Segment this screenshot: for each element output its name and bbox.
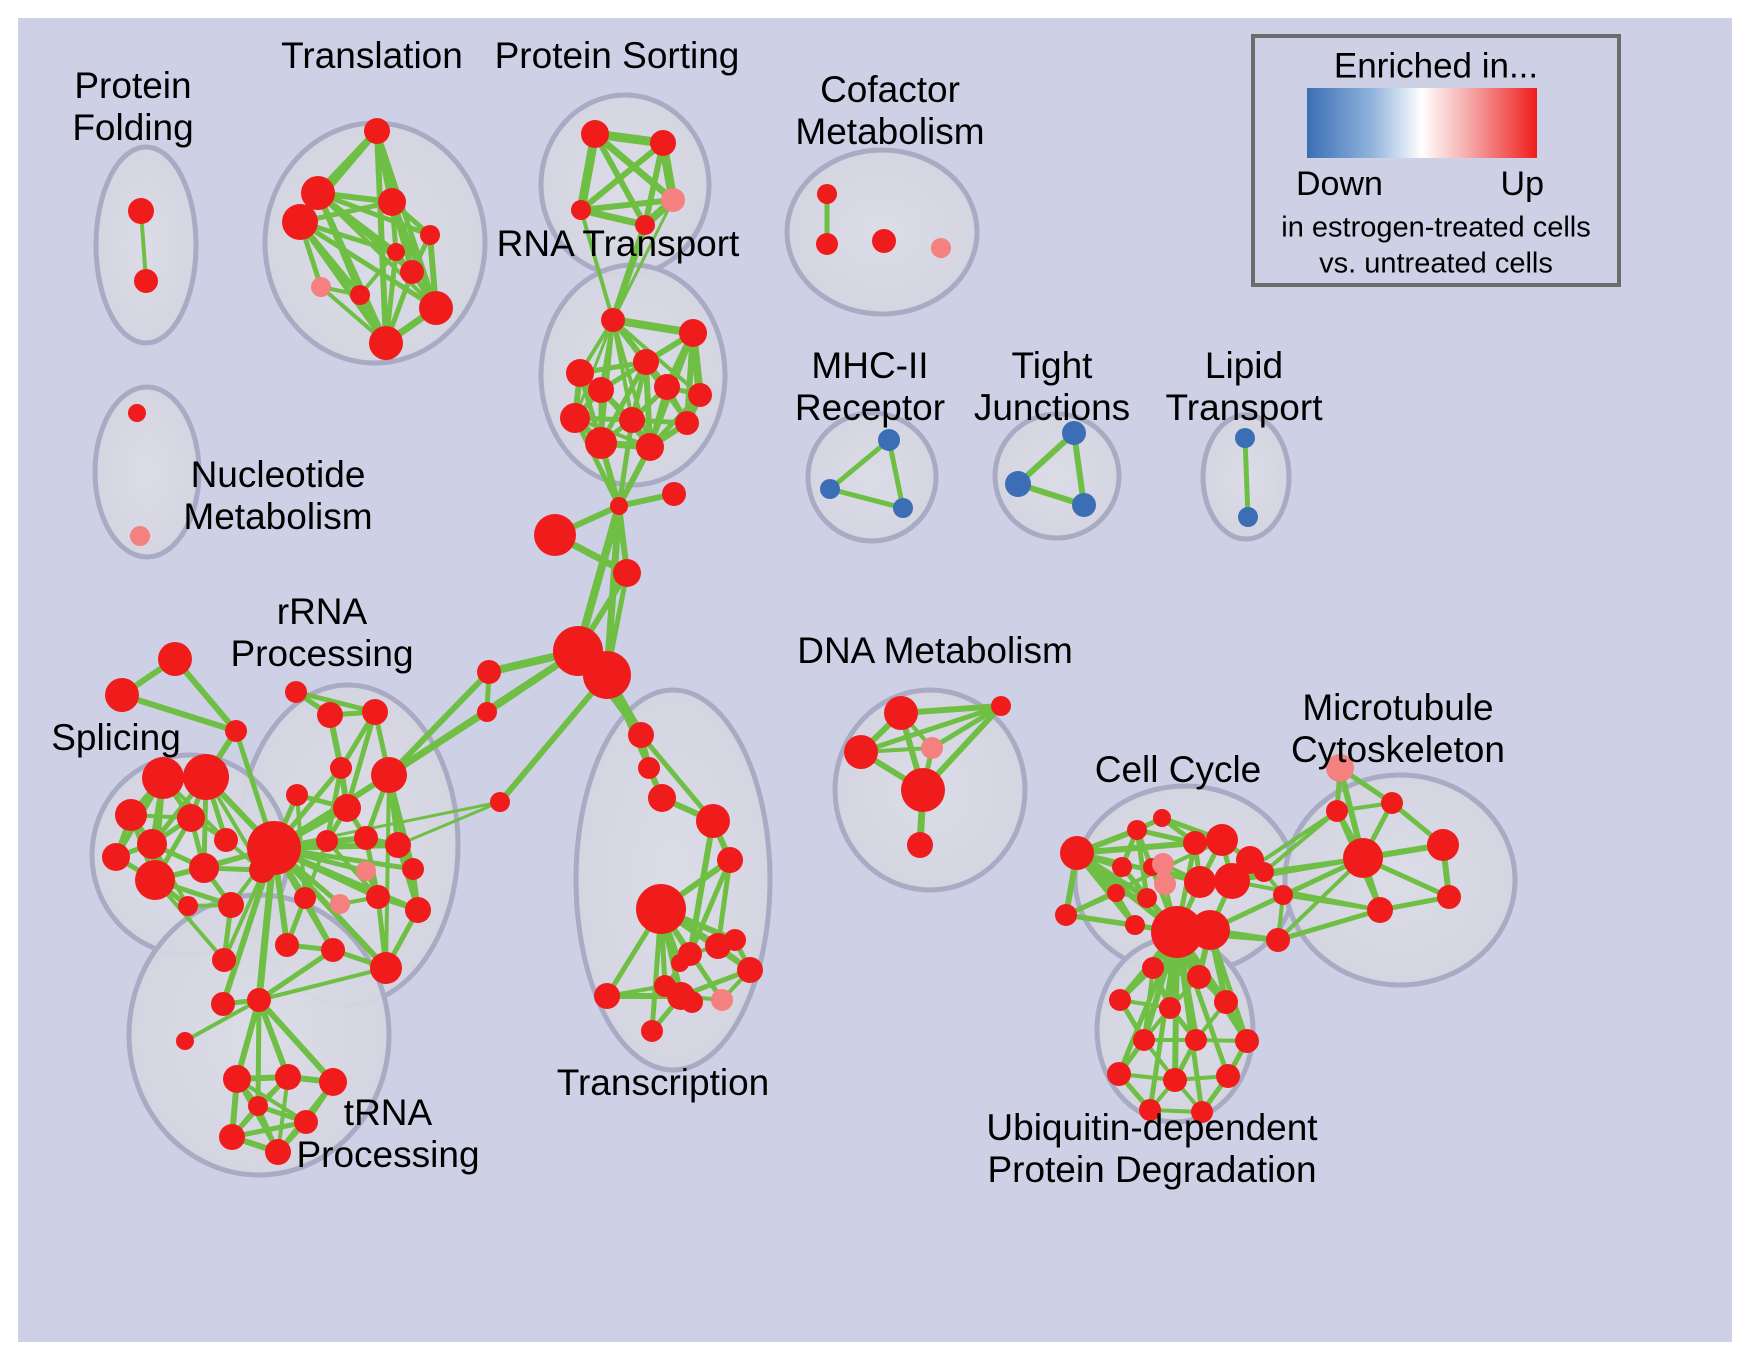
network-node[interactable]	[378, 188, 406, 216]
network-node[interactable]	[893, 498, 913, 518]
cluster-label-rna-transport: RNA Transport	[497, 223, 740, 264]
network-node[interactable]	[212, 948, 236, 972]
network-node[interactable]	[354, 826, 378, 850]
network-node[interactable]	[369, 326, 403, 360]
cluster-label-cell-cycle: Cell Cycle	[1095, 749, 1262, 790]
network-node[interactable]	[211, 992, 235, 1016]
network-node[interactable]	[1238, 507, 1258, 527]
network-node[interactable]	[330, 757, 352, 779]
network-node[interactable]	[931, 238, 951, 258]
network-node[interactable]	[1343, 838, 1383, 878]
network-node[interactable]	[872, 229, 896, 253]
network-node[interactable]	[218, 892, 244, 918]
network-node[interactable]	[619, 407, 645, 433]
network-node[interactable]	[594, 983, 620, 1009]
network-node[interactable]	[247, 821, 301, 875]
legend-up-label: Up	[1501, 165, 1544, 203]
network-node[interactable]	[1072, 493, 1096, 517]
network-node[interactable]	[387, 243, 405, 261]
network-node[interactable]	[1254, 862, 1274, 882]
cluster-hull-transcription	[576, 690, 770, 1070]
legend-caption-line2: vs. untreated cells	[1319, 248, 1553, 280]
network-node[interactable]	[610, 497, 628, 515]
network-node[interactable]	[654, 374, 680, 400]
network-node[interactable]	[385, 832, 411, 858]
network-node[interactable]	[679, 319, 707, 347]
network-node[interactable]	[285, 681, 307, 703]
legend-down-label: Down	[1296, 165, 1383, 203]
network-node[interactable]	[1427, 829, 1459, 861]
network-node[interactable]	[1206, 824, 1238, 856]
network-node[interactable]	[661, 188, 685, 212]
network-node[interactable]	[588, 377, 614, 403]
network-node[interactable]	[225, 720, 247, 742]
network-node[interactable]	[583, 651, 631, 699]
network-node[interactable]	[636, 884, 686, 934]
network-node[interactable]	[317, 702, 343, 728]
network-node[interactable]	[142, 757, 184, 799]
network-node[interactable]	[566, 359, 594, 387]
network-node[interactable]	[321, 938, 345, 962]
cluster-label-dna-metabolism: DNA Metabolism	[797, 630, 1073, 671]
cluster-label-ubiquitin-protein-degradation: Ubiquitin-dependent	[986, 1107, 1318, 1148]
cluster-label-tight-junctions: Junctions	[974, 387, 1130, 428]
network-node[interactable]	[662, 482, 686, 506]
cluster-label-lipid-transport: Transport	[1166, 387, 1324, 428]
network-node[interactable]	[820, 479, 840, 499]
network-node[interactable]	[991, 696, 1011, 716]
network-node[interactable]	[356, 861, 376, 881]
network-node[interactable]	[102, 843, 130, 871]
network-node[interactable]	[1107, 1062, 1131, 1086]
cluster-label-protein-sorting: Protein Sorting	[495, 35, 740, 76]
network-node[interactable]	[641, 1020, 663, 1042]
network-node[interactable]	[633, 349, 659, 375]
network-node[interactable]	[223, 1065, 251, 1093]
network-node[interactable]	[405, 897, 431, 923]
network-node[interactable]	[1060, 836, 1094, 870]
network-node[interactable]	[1163, 1068, 1187, 1092]
network-node[interactable]	[282, 204, 318, 240]
network-node[interactable]	[1190, 910, 1230, 950]
network-node[interactable]	[370, 952, 402, 984]
cluster-hull-protein-folding	[96, 147, 196, 343]
cluster-label-rrna-processing: Processing	[230, 633, 413, 674]
network-node[interactable]	[1153, 809, 1171, 827]
network-node[interactable]	[1381, 792, 1403, 814]
network-node[interactable]	[105, 678, 139, 712]
cluster-label-protein-folding: Folding	[72, 107, 193, 148]
network-node[interactable]	[1107, 884, 1125, 902]
network-node[interactable]	[319, 1068, 347, 1096]
network-node[interactable]	[1187, 965, 1211, 989]
network-node[interactable]	[581, 120, 609, 148]
network-node[interactable]	[650, 130, 676, 156]
network-node[interactable]	[128, 404, 146, 422]
network-node[interactable]	[490, 792, 510, 812]
network-node[interactable]	[1235, 428, 1255, 448]
network-node[interactable]	[477, 660, 501, 684]
cluster-label-splicing: Splicing	[51, 717, 181, 758]
network-node[interactable]	[1326, 800, 1348, 822]
cluster-hull-mhc-ii-receptor	[808, 413, 936, 541]
network-node[interactable]	[128, 198, 154, 224]
network-node[interactable]	[1125, 915, 1145, 935]
network-node[interactable]	[1266, 928, 1290, 952]
network-node[interactable]	[737, 957, 763, 983]
network-node[interactable]	[158, 642, 192, 676]
cluster-label-microtubule-cytoskeleton: Microtubule	[1302, 687, 1493, 728]
network-node[interactable]	[675, 411, 699, 435]
cluster-label-mhc-ii-receptor: MHC-II	[811, 345, 928, 386]
network-node[interactable]	[420, 225, 440, 245]
network-node[interactable]	[667, 982, 695, 1010]
network-node[interactable]	[648, 784, 676, 812]
network-node[interactable]	[316, 830, 338, 852]
network-node[interactable]	[921, 737, 943, 759]
network-node[interactable]	[189, 853, 219, 883]
network-node[interactable]	[1152, 853, 1174, 875]
network-node[interactable]	[333, 794, 361, 822]
cluster-label-rrna-processing: rRNA	[277, 591, 368, 632]
network-node[interactable]	[419, 291, 453, 325]
network-node[interactable]	[1109, 989, 1131, 1011]
network-node[interactable]	[364, 118, 390, 144]
network-node[interactable]	[247, 988, 271, 1012]
network-node[interactable]	[130, 526, 150, 546]
network-canvas: ProteinFoldingTranslationProtein Sorting…	[0, 0, 1750, 1360]
network-node[interactable]	[1437, 885, 1461, 909]
network-node[interactable]	[294, 887, 316, 909]
network-node[interactable]	[705, 933, 731, 959]
network-node[interactable]	[907, 832, 933, 858]
network-node[interactable]	[636, 433, 664, 461]
network-node[interactable]	[688, 383, 712, 407]
network-node[interactable]	[294, 1110, 318, 1134]
cluster-label-tight-junctions: Tight	[1012, 345, 1094, 386]
network-node[interactable]	[219, 1124, 245, 1150]
cluster-label-translation: Translation	[281, 35, 463, 76]
network-node[interactable]	[402, 858, 424, 880]
network-node[interactable]	[362, 699, 388, 725]
cluster-label-mhc-ii-receptor: Receptor	[795, 387, 945, 428]
network-node[interactable]	[1055, 904, 1077, 926]
cluster-label-ubiquitin-protein-degradation: Protein Degradation	[987, 1149, 1316, 1190]
network-node[interactable]	[1273, 885, 1293, 905]
network-node[interactable]	[1214, 863, 1250, 899]
network-node[interactable]	[1142, 957, 1164, 979]
network-node[interactable]	[1216, 1064, 1240, 1088]
network-node[interactable]	[1185, 1029, 1207, 1051]
cluster-label-transcription: Transcription	[557, 1062, 769, 1103]
network-node[interactable]	[560, 403, 590, 433]
cluster-label-cofactor-metabolism: Cofactor	[820, 69, 960, 110]
network-node[interactable]	[135, 860, 175, 900]
network-node[interactable]	[301, 176, 335, 210]
network-node[interactable]	[628, 722, 654, 748]
network-node[interactable]	[286, 784, 308, 806]
network-node[interactable]	[137, 829, 167, 859]
cluster-label-trna-processing: tRNA	[344, 1092, 433, 1133]
network-node[interactable]	[178, 896, 198, 916]
network-node[interactable]	[1184, 866, 1216, 898]
network-node[interactable]	[1137, 888, 1157, 908]
network-node[interactable]	[400, 260, 424, 284]
cluster-label-lipid-transport: Lipid	[1205, 345, 1283, 386]
network-node[interactable]	[1235, 1029, 1259, 1053]
legend-gradient-bar	[1307, 88, 1537, 158]
network-node[interactable]	[477, 702, 497, 722]
network-node[interactable]	[585, 427, 617, 459]
network-node[interactable]	[177, 804, 205, 832]
network-node[interactable]	[638, 757, 660, 779]
cluster-label-nucleotide-metabolism: Nucleotide	[191, 454, 366, 495]
network-node[interactable]	[214, 828, 238, 852]
network-node[interactable]	[176, 1032, 194, 1050]
network-node[interactable]	[134, 269, 158, 293]
network-node[interactable]	[1367, 897, 1393, 923]
network-node[interactable]	[601, 308, 625, 332]
legend-panel: Enriched in... Down Up in estrogen-treat…	[1253, 36, 1619, 285]
legend-title: Enriched in...	[1334, 46, 1538, 85]
network-node[interactable]	[1183, 831, 1207, 855]
cluster-label-nucleotide-metabolism: Metabolism	[183, 496, 372, 537]
network-node[interactable]	[311, 277, 331, 297]
network-node[interactable]	[183, 754, 229, 800]
network-node[interactable]	[1005, 471, 1031, 497]
network-node[interactable]	[613, 559, 641, 587]
legend-caption-line1: in estrogen-treated cells	[1281, 212, 1591, 244]
network-node[interactable]	[717, 847, 743, 873]
network-node[interactable]	[1133, 1029, 1155, 1051]
network-node[interactable]	[696, 804, 730, 838]
network-node[interactable]	[275, 933, 299, 957]
cluster-label-protein-folding: Protein	[74, 65, 191, 106]
network-node[interactable]	[371, 757, 407, 793]
network-node[interactable]	[816, 233, 838, 255]
network-node[interactable]	[350, 285, 370, 305]
network-node[interactable]	[248, 1096, 268, 1116]
network-node[interactable]	[671, 954, 689, 972]
network-node[interactable]	[330, 894, 350, 914]
network-node[interactable]	[1112, 857, 1132, 877]
network-node[interactable]	[1127, 820, 1147, 840]
network-node[interactable]	[534, 514, 576, 556]
network-node[interactable]	[878, 429, 900, 451]
network-node[interactable]	[366, 885, 390, 909]
cluster-label-cofactor-metabolism: Metabolism	[795, 111, 984, 152]
network-node[interactable]	[1154, 873, 1176, 895]
network-node[interactable]	[711, 989, 733, 1011]
network-node[interactable]	[1214, 990, 1238, 1014]
network-node[interactable]	[1159, 997, 1181, 1019]
network-node[interactable]	[115, 799, 147, 831]
cluster-label-trna-processing: Processing	[296, 1134, 479, 1175]
network-node[interactable]	[817, 184, 837, 204]
network-node[interactable]	[901, 768, 945, 812]
cluster-label-microtubule-cytoskeleton: Cytoskeleton	[1291, 729, 1505, 770]
network-node[interactable]	[844, 735, 878, 769]
network-node[interactable]	[571, 200, 591, 220]
network-node[interactable]	[265, 1139, 291, 1165]
network-edge	[1245, 438, 1248, 517]
network-node[interactable]	[275, 1064, 301, 1090]
enrichment-map-figure: ProteinFoldingTranslationProtein Sorting…	[0, 0, 1750, 1360]
network-node[interactable]	[884, 696, 918, 730]
